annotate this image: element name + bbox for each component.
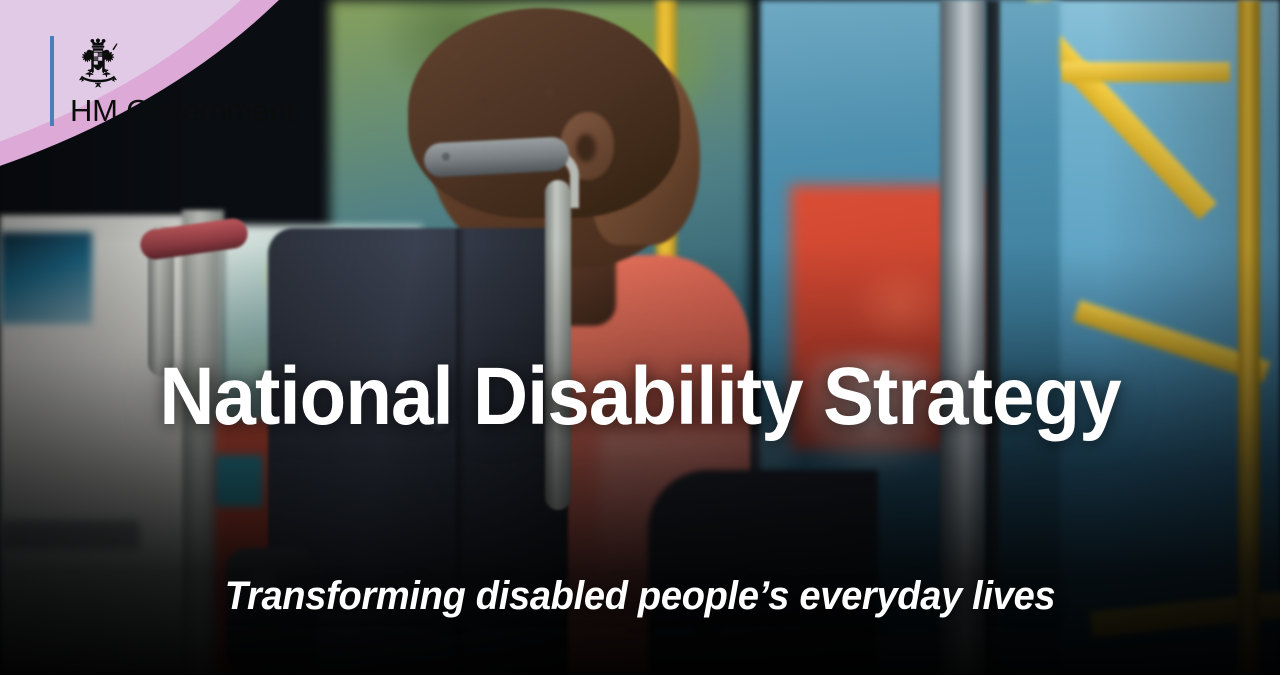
hm-government-logo: HM Government bbox=[50, 36, 295, 126]
publication-cover: HM Government National Disability Strate… bbox=[0, 0, 1280, 675]
photo-person-arm bbox=[648, 470, 878, 675]
page-subtitle: Transforming disabled people’s everyday … bbox=[32, 574, 1248, 618]
photo-upper-handrail bbox=[1060, 62, 1230, 82]
page-title: National Disability Strategy bbox=[82, 358, 1198, 437]
logo-organisation-name: HM Government bbox=[70, 95, 295, 126]
logo-blue-rule bbox=[50, 36, 54, 126]
photo-left-bus-window bbox=[0, 232, 92, 324]
title-block: National Disability Strategy bbox=[0, 358, 1280, 437]
photo-wheelchair-handle-right bbox=[545, 180, 571, 510]
page-title-text: National Disability Strategy bbox=[159, 351, 1120, 442]
photo-left-bus-trim bbox=[0, 520, 140, 550]
royal-coat-of-arms-icon bbox=[70, 36, 126, 88]
photo-bus-livery-teal bbox=[215, 455, 263, 507]
